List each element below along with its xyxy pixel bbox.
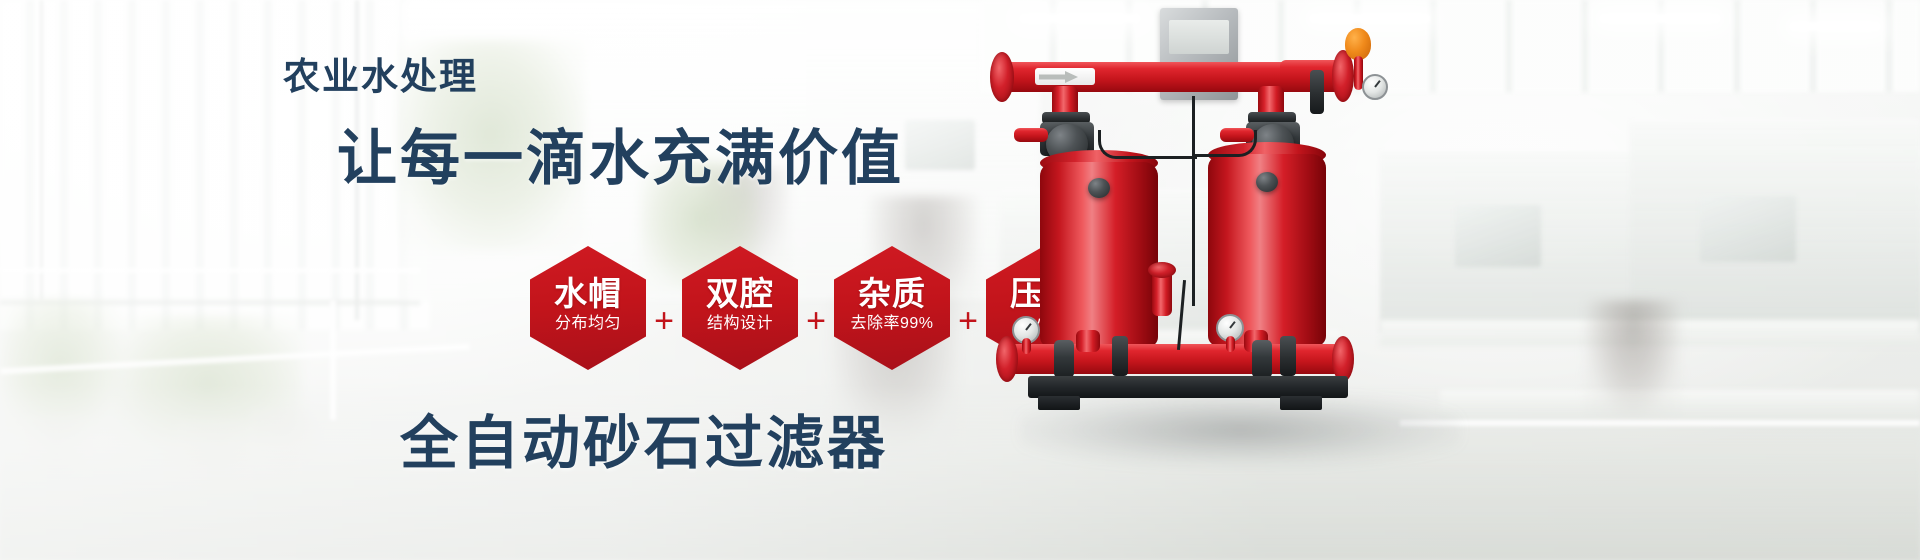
badge-title: 双腔 xyxy=(706,277,774,312)
feature-badge-3[interactable]: 杂质 去除率99% xyxy=(834,246,950,370)
drain-valve xyxy=(1252,340,1272,378)
pipe-flange xyxy=(1148,262,1176,278)
control-cable xyxy=(1098,130,1197,159)
inspection-cap xyxy=(1088,178,1110,198)
drain-valve xyxy=(1054,340,1074,378)
badge-subtitle: 分布均匀 xyxy=(555,315,621,333)
gauge-needle xyxy=(1025,323,1032,331)
gauge-needle xyxy=(1229,321,1236,329)
tank-outlet xyxy=(1076,330,1100,352)
flow-arrow-label xyxy=(1035,68,1095,85)
product-shadow xyxy=(1020,395,1460,465)
badge-subtitle: 结构设计 xyxy=(707,315,773,333)
inspection-cap xyxy=(1256,172,1278,192)
gauge-needle xyxy=(1374,80,1381,88)
controller-screen xyxy=(1169,20,1229,54)
pressure-gauge xyxy=(1362,74,1388,100)
pipe-flange xyxy=(996,336,1018,382)
pipe-flange xyxy=(990,52,1014,102)
headline-text: 让每一滴水充满价值 xyxy=(337,110,904,197)
badge-title: 水帽 xyxy=(554,277,622,312)
feature-badge-1[interactable]: 水帽 分布均匀 xyxy=(530,246,646,370)
product-image xyxy=(980,0,1540,560)
badge-subtitle: 去除率99% xyxy=(850,315,933,333)
skid-foot xyxy=(1038,396,1080,410)
pipe-collar xyxy=(1310,70,1324,114)
gauge-stem xyxy=(1226,336,1235,352)
plus-icon: + xyxy=(646,246,682,370)
product-name-text: 全自动砂石过滤器 xyxy=(400,396,888,480)
control-cable xyxy=(1192,96,1195,306)
pipe-collar xyxy=(1280,336,1296,376)
valve-stub-pipe xyxy=(1014,128,1048,142)
skid-foot xyxy=(1280,396,1322,410)
eyebrow-text: 农业水处理 xyxy=(283,46,478,100)
feature-badge-2[interactable]: 双腔 结构设计 xyxy=(682,246,798,370)
control-cable xyxy=(1194,130,1257,157)
control-cable xyxy=(1177,280,1186,350)
promo-banner: 农业水处理 让每一滴水充满价值 全自动砂石过滤器 水帽 分布均匀 + 双腔 结构… xyxy=(0,0,1920,560)
badge-title: 杂质 xyxy=(858,277,926,312)
gauge-stem xyxy=(1022,338,1031,354)
flow-arrow-icon xyxy=(1065,71,1078,83)
base-skid xyxy=(1028,376,1348,398)
plus-icon: + xyxy=(798,246,834,370)
pipe-collar xyxy=(1112,336,1128,376)
